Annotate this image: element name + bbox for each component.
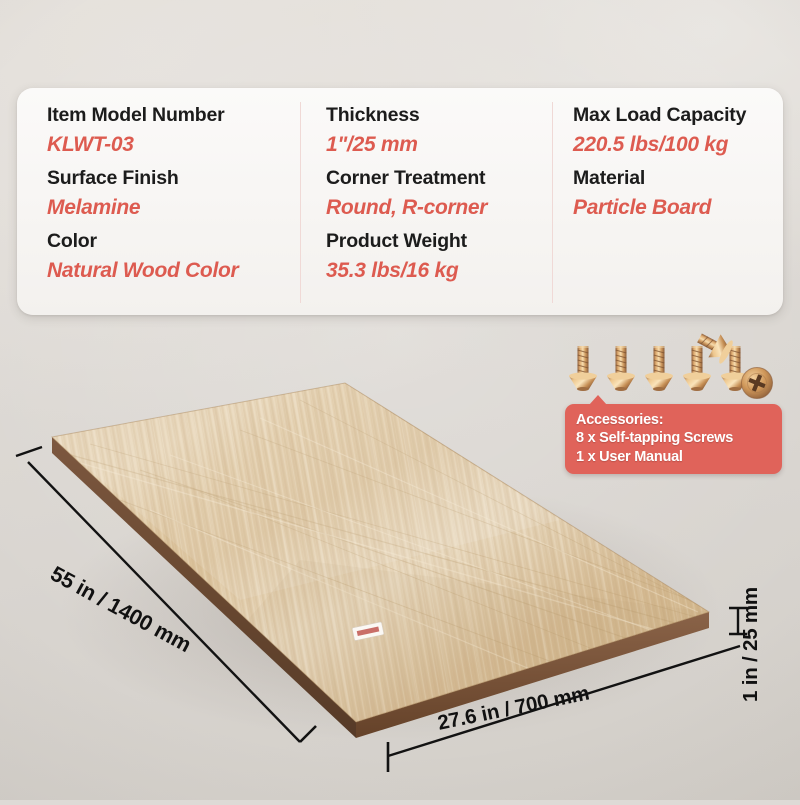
spec-label: Surface Finish	[47, 165, 300, 193]
spec-item-surface-finish: Surface Finish Melamine	[47, 165, 300, 222]
spec-value: 220.5 lbs/100 kg	[573, 130, 783, 159]
accessories-callout: Accessories: 8 x Self-tapping Screws 1 x…	[565, 404, 782, 474]
accessories-line-screws: 8 x Self-tapping Screws	[576, 429, 773, 447]
spec-item-material: Material Particle Board	[573, 165, 783, 222]
spec-label: Item Model Number	[47, 102, 300, 130]
spec-column-1: Item Model Number KLWT-03 Surface Finish…	[17, 102, 300, 303]
spec-value: 35.3 lbs/16 kg	[326, 256, 552, 285]
spec-item-max-load-capacity: Max Load Capacity 220.5 lbs/100 kg	[573, 102, 783, 159]
spec-column-3: Max Load Capacity 220.5 lbs/100 kg Mater…	[552, 102, 783, 303]
spec-label: Material	[573, 165, 783, 193]
spec-item-model-number: Item Model Number KLWT-03	[47, 102, 300, 159]
spec-value: Particle Board	[573, 193, 783, 222]
spec-value: KLWT-03	[47, 130, 300, 159]
spec-value: Round, R-corner	[326, 193, 552, 222]
spec-label: Corner Treatment	[326, 165, 552, 193]
screws-group	[569, 326, 773, 398]
spec-value: 1"/25 mm	[326, 130, 552, 159]
callout-pointer-icon	[589, 395, 607, 405]
accessories-title: Accessories:	[576, 411, 773, 429]
spec-item-color: Color Natural Wood Color	[47, 228, 300, 285]
spec-item-product-weight: Product Weight 35.3 lbs/16 kg	[326, 228, 552, 285]
accessories-line-manual: 1 x User Manual	[576, 448, 773, 466]
dimension-label-thickness: 1 in / 25 mm	[739, 587, 763, 702]
spec-value: Natural Wood Color	[47, 256, 300, 285]
spec-label: Thickness	[326, 102, 552, 130]
specification-card: Item Model Number KLWT-03 Surface Finish…	[17, 88, 783, 315]
spec-label: Product Weight	[326, 228, 552, 256]
spec-value: Melamine	[47, 193, 300, 222]
spec-column-2: Thickness 1"/25 mm Corner Treatment Roun…	[300, 102, 552, 303]
spec-item-thickness: Thickness 1"/25 mm	[326, 102, 552, 159]
spec-item-corner-treatment: Corner Treatment Round, R-corner	[326, 165, 552, 222]
spec-label: Color	[47, 228, 300, 256]
spec-label: Max Load Capacity	[573, 102, 783, 130]
